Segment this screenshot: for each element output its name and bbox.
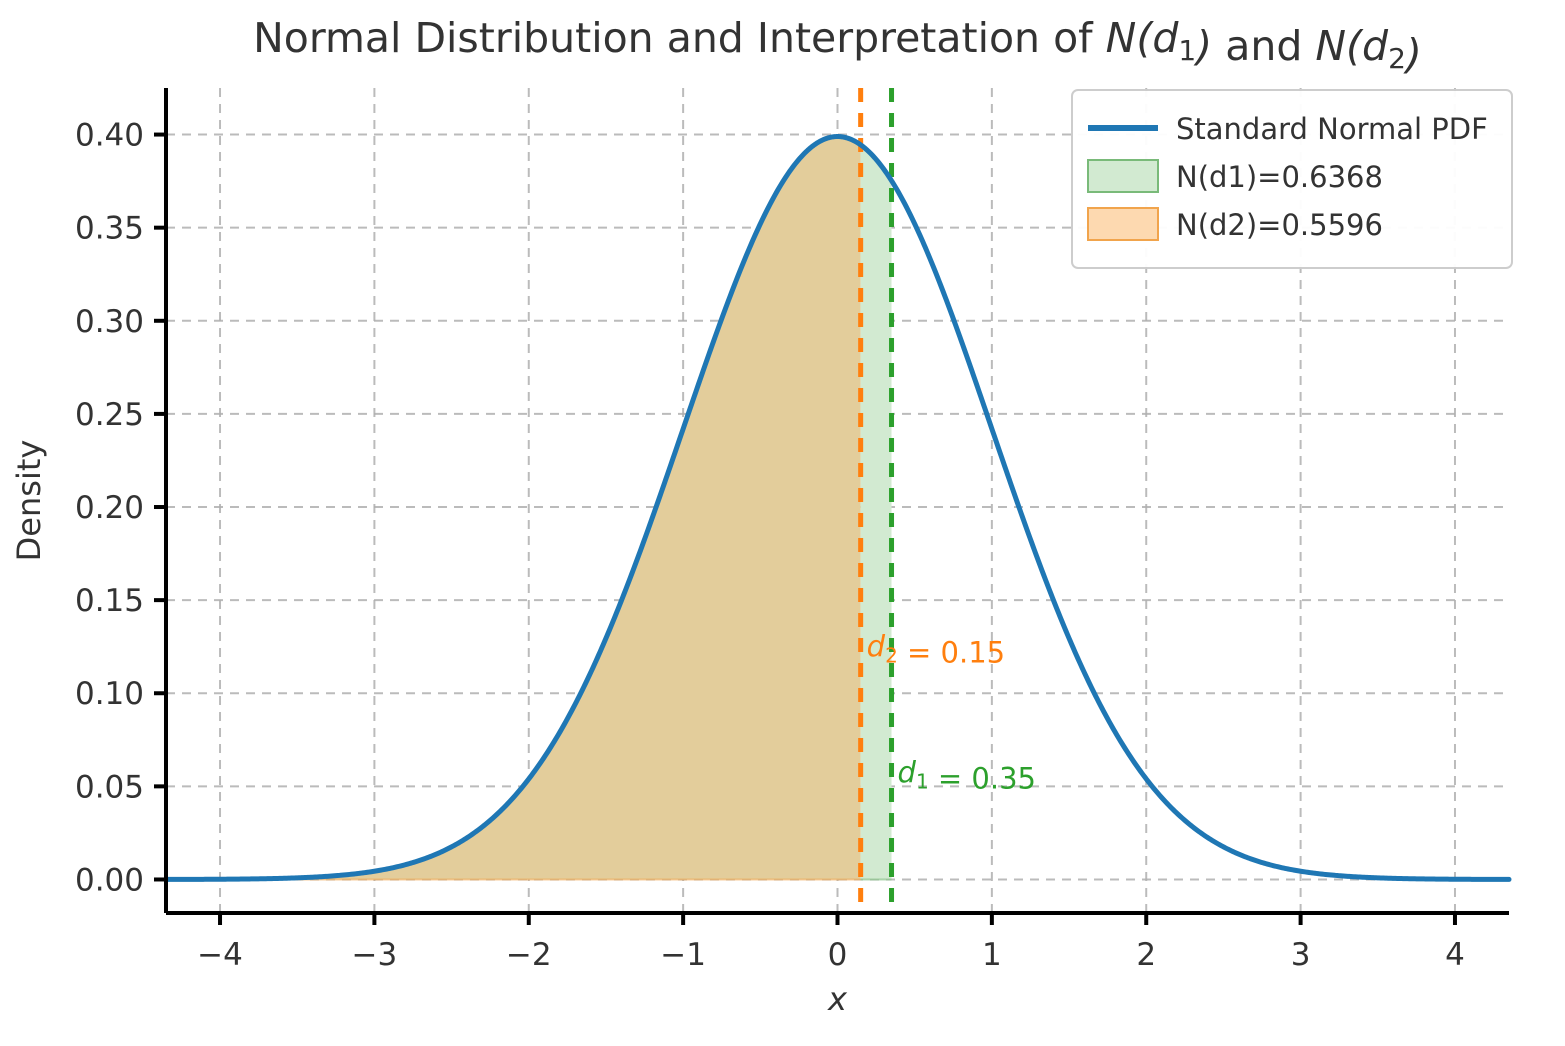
legend: Standard Normal PDFN(d1)=0.6368N(d2)=0.5… <box>1072 90 1512 268</box>
legend-swatch-patch <box>1088 160 1158 192</box>
legend-label-0: Standard Normal PDF <box>1176 112 1488 146</box>
normal-distribution-chart: d2 = 0.15d1 = 0.35−4−3−2−1012340.000.050… <box>0 0 1565 1046</box>
ytick-label-5: 0.25 <box>75 397 144 433</box>
y-axis-label: Density <box>10 440 48 562</box>
legend-label-2: N(d2)=0.5596 <box>1176 208 1383 242</box>
xtick-label-3: −1 <box>660 937 706 973</box>
xtick-label-2: −2 <box>506 937 552 973</box>
fill-area-nd1 <box>861 145 892 880</box>
xtick-label-4: 0 <box>828 937 848 973</box>
xtick-label-7: 3 <box>1291 937 1311 973</box>
ytick-label-3: 0.15 <box>75 583 144 619</box>
ytick-label-2: 0.10 <box>75 676 144 712</box>
legend-item-2[interactable]: N(d2)=0.5596 <box>1088 208 1383 242</box>
xtick-label-6: 2 <box>1136 937 1156 973</box>
ytick-label-8: 0.40 <box>75 118 144 154</box>
xtick-label-8: 4 <box>1445 937 1465 973</box>
ytick-label-4: 0.20 <box>75 490 144 526</box>
legend-label-1: N(d1)=0.6368 <box>1176 160 1383 194</box>
ytick-label-7: 0.35 <box>75 211 144 247</box>
ytick-label-0: 0.00 <box>75 862 144 898</box>
chart-figure: d2 = 0.15d1 = 0.35−4−3−2−1012340.000.050… <box>0 0 1565 1046</box>
legend-item-1[interactable]: N(d1)=0.6368 <box>1088 160 1383 194</box>
xtick-label-1: −3 <box>352 937 398 973</box>
legend-swatch-patch <box>1088 208 1158 240</box>
ytick-label-1: 0.05 <box>75 769 144 805</box>
xtick-label-5: 1 <box>982 937 1002 973</box>
ytick-label-6: 0.30 <box>75 304 144 340</box>
xtick-label-0: −4 <box>197 937 243 973</box>
x-axis-label: x <box>827 980 848 1018</box>
